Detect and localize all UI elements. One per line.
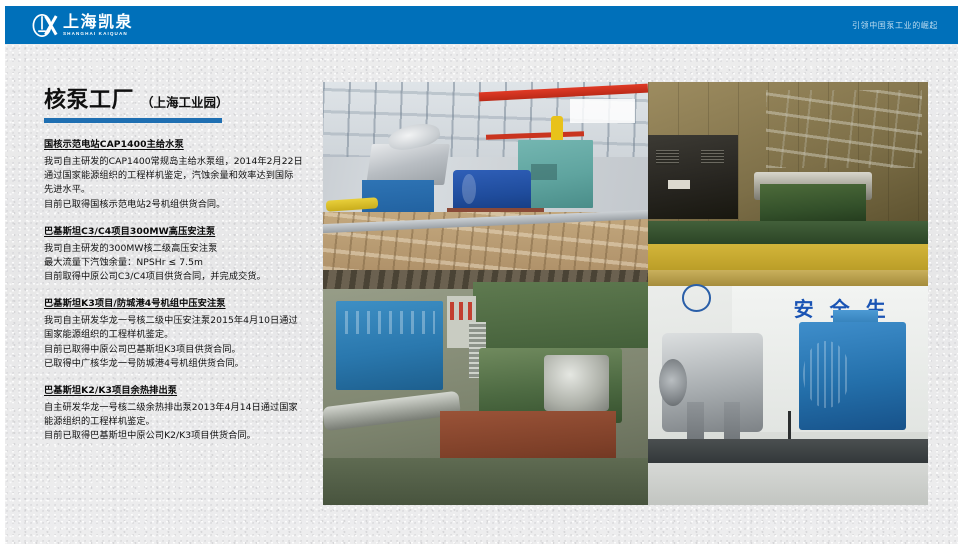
crane-hook-block-icon <box>551 116 563 142</box>
logo-chinese-name: 上海凯泉 <box>63 14 133 30</box>
steel-skid-base <box>648 439 928 463</box>
block-line: 目前已取得中原公司巴基斯坦K3项目供货合同。 <box>44 343 316 357</box>
photo-grid: 安 全 生 <box>323 82 928 505</box>
photo-factory-hall-feedwater-pump <box>323 82 648 270</box>
logo-english-name: SHANGHAI KAIQUAN <box>63 32 133 37</box>
logo-wordmark: 上海凯泉 SHANGHAI KAIQUAN <box>63 14 133 37</box>
text-block: 国核示范电站CAP1400主给水泵 我司自主研发的CAP1400常规岛主给水泵组… <box>44 138 316 212</box>
text-block-list: 国核示范电站CAP1400主给水泵 我司自主研发的CAP1400常规岛主给水泵组… <box>44 138 316 444</box>
block-line: 目前已取得国核示范电站2号机组供货合同。 <box>44 198 316 212</box>
text-block: 巴基斯坦C3/C4项目300MW高压安注泵 我司自主研发的300MW核二级高压安… <box>44 225 316 285</box>
page-title-main: 核泵工厂 <box>44 82 134 114</box>
page-title: 核泵工厂 （上海工业园） <box>44 82 316 114</box>
photo-pump-motor-safety-wall: 安 全 生 <box>648 270 928 505</box>
block-line: 目前已取得巴基斯坦中原公司K2/K3项目供货合同。 <box>44 429 316 443</box>
black-motor-housing <box>648 135 738 220</box>
block-line: 已取得中广核华龙一号防城港4号机组供货合同。 <box>44 357 316 371</box>
block-line: 自主研发华龙一号核二级余热排出泵2013年4月14日通过国家 <box>44 401 316 415</box>
block-heading: 巴基斯坦C3/C4项目300MW高压安注泵 <box>44 225 316 239</box>
text-block: 巴基斯坦K2/K3项目余热排出泵 自主研发华龙一号核二级余热排出泵2013年4月… <box>44 384 316 444</box>
text-block: 巴基斯坦K3项目/防城港4号机组中压安注泵 我司自主研发华龙一号核二级中压安注泵… <box>44 297 316 371</box>
motor-vent-grille <box>656 150 678 165</box>
slide-root: 上海凯泉 SHANGHAI KAIQUAN 引领中国泵工业的崛起 核泵工厂 （上… <box>0 0 963 549</box>
title-underline-rule <box>44 118 222 123</box>
kaiquan-circle-logo-icon <box>31 12 58 39</box>
header-bar: 上海凯泉 SHANGHAI KAIQUAN 引领中国泵工业的崛起 <box>5 6 958 44</box>
overhead-piping <box>766 90 923 169</box>
block-heading: 巴基斯坦K2/K3项目余热排出泵 <box>44 384 316 398</box>
hall-window <box>570 99 635 123</box>
page-title-sub: （上海工业园） <box>141 92 229 111</box>
block-line: 国家能源组织的工程样机鉴定。 <box>44 328 316 342</box>
blue-pump-body <box>453 170 531 211</box>
blue-electric-motor <box>336 301 443 390</box>
block-heading: 国核示范电站CAP1400主给水泵 <box>44 138 316 152</box>
background-green-equipment <box>473 282 649 348</box>
block-line: 目前取得中原公司C3/C4项目供货合同，并完成交货。 <box>44 270 316 284</box>
slogan-char: 安 <box>794 293 814 322</box>
nameplate <box>668 180 690 189</box>
photo-plant-room-green-pump-unit <box>648 82 928 270</box>
motor-vent-grille <box>701 150 723 165</box>
green-base-frame <box>648 221 928 244</box>
yellow-overhead-beam <box>648 270 928 286</box>
block-line: 我司自主研发华龙一号核二级中压安注泵2015年4月10日通过 <box>44 314 316 328</box>
stainless-pump-head <box>544 355 609 411</box>
yellow-floor <box>648 244 928 270</box>
green-pump-support <box>760 184 866 225</box>
workshop-floor <box>323 458 648 505</box>
block-line: 最大流量下汽蚀余量：NPSHr ≤ 7.5m <box>44 256 316 270</box>
content-left-column: 核泵工厂 （上海工业园） 国核示范电站CAP1400主给水泵 我司自主研发的CA… <box>44 82 316 457</box>
company-logo[interactable]: 上海凯泉 SHANGHAI KAIQUAN <box>31 11 133 40</box>
block-line: 能源组织的工程样机鉴定。 <box>44 415 316 429</box>
block-line: 我司自主研发的300MW核二级高压安注泵 <box>44 242 316 256</box>
block-line: 先进水平。 <box>44 183 316 197</box>
test-bay-floor <box>648 463 928 505</box>
photo-blue-motor-green-pump-test <box>323 270 648 505</box>
header-tagline: 引领中国泵工业的崛起 <box>852 6 938 44</box>
block-line: 通过国家能源组织的工程样机鉴定，汽蚀余量和效率达到国际 <box>44 169 316 183</box>
valve-handwheel-icon <box>682 284 711 312</box>
block-heading: 巴基斯坦K3项目/防城港4号机组中压安注泵 <box>44 297 316 311</box>
block-line: 我司自主研发的CAP1400常规岛主给水泵组，2014年2月22日 <box>44 155 316 169</box>
